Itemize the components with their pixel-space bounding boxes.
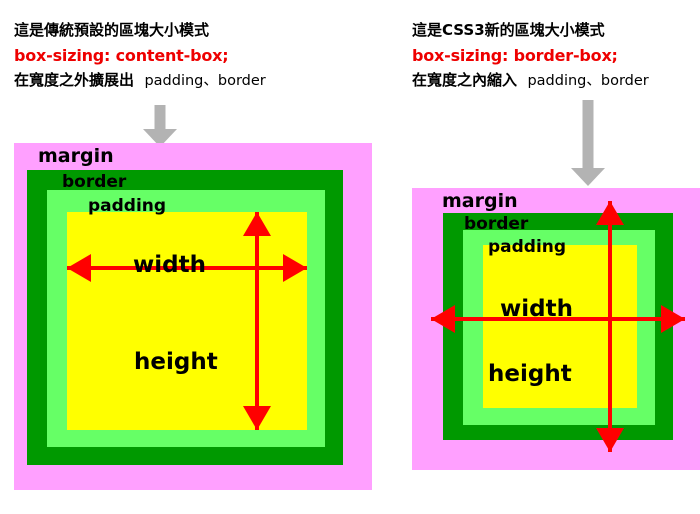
box-sizing-comparison-diagram: 這是傳統預設的區塊大小模式 box-sizing: content-box; 在… <box>0 0 700 514</box>
arrow-head-up <box>243 212 271 236</box>
arrow-head-right <box>283 254 307 282</box>
height-label: height <box>488 363 572 386</box>
grey-down-arrow-icon-right <box>568 100 608 188</box>
border-box-model: margin border padding width height <box>412 188 700 470</box>
caption-left-line-1: 這是傳統預設的區塊大小模式 <box>14 18 266 43</box>
margin-label: margin <box>38 147 114 166</box>
caption-left-line-3: 在寬度之外擴展出 padding、border <box>14 68 266 94</box>
arrow-head-up <box>596 201 624 225</box>
border-label: border <box>464 215 528 234</box>
arrow-head-down <box>596 428 624 452</box>
margin-label: margin <box>442 192 518 211</box>
arrow-head-left <box>431 305 455 333</box>
width-label: width <box>500 298 573 321</box>
caption-right-line-3-bold: 在寬度之內縮入 <box>412 71 517 89</box>
caption-left-line-3-bold: 在寬度之外擴展出 <box>14 71 134 89</box>
border-label: border <box>62 173 126 192</box>
caption-right-code: box-sizing: border-box; <box>412 43 649 68</box>
width-label: width <box>133 254 206 277</box>
content-box-model: margin border padding width height <box>14 143 372 490</box>
measure-bar <box>608 201 612 452</box>
caption-left-code: box-sizing: content-box; <box>14 43 266 68</box>
padding-label: padding <box>88 197 166 216</box>
caption-left-line-3-thin: padding、border <box>144 73 265 89</box>
arrow-shaft <box>583 100 594 170</box>
caption-border-box: 這是CSS3新的區塊大小模式 box-sizing: border-box; 在… <box>412 18 649 94</box>
arrow-head <box>571 168 605 186</box>
height-measure-arrow <box>595 201 625 452</box>
caption-right-line-3: 在寬度之內縮入 padding、border <box>412 68 649 94</box>
arrow-shaft <box>155 105 166 131</box>
caption-right-line-1: 這是CSS3新的區塊大小模式 <box>412 18 649 43</box>
height-label: height <box>134 351 218 374</box>
caption-content-box: 這是傳統預設的區塊大小模式 box-sizing: content-box; 在… <box>14 18 266 94</box>
padding-label: padding <box>488 238 566 257</box>
arrow-head-left <box>67 254 91 282</box>
caption-right-line-3-thin: padding、border <box>527 73 648 89</box>
arrow-head-right <box>661 305 685 333</box>
height-measure-arrow <box>242 212 272 430</box>
measure-bar <box>255 212 259 430</box>
arrow-head-down <box>243 406 271 430</box>
grey-down-arrow-icon-left <box>140 105 180 147</box>
